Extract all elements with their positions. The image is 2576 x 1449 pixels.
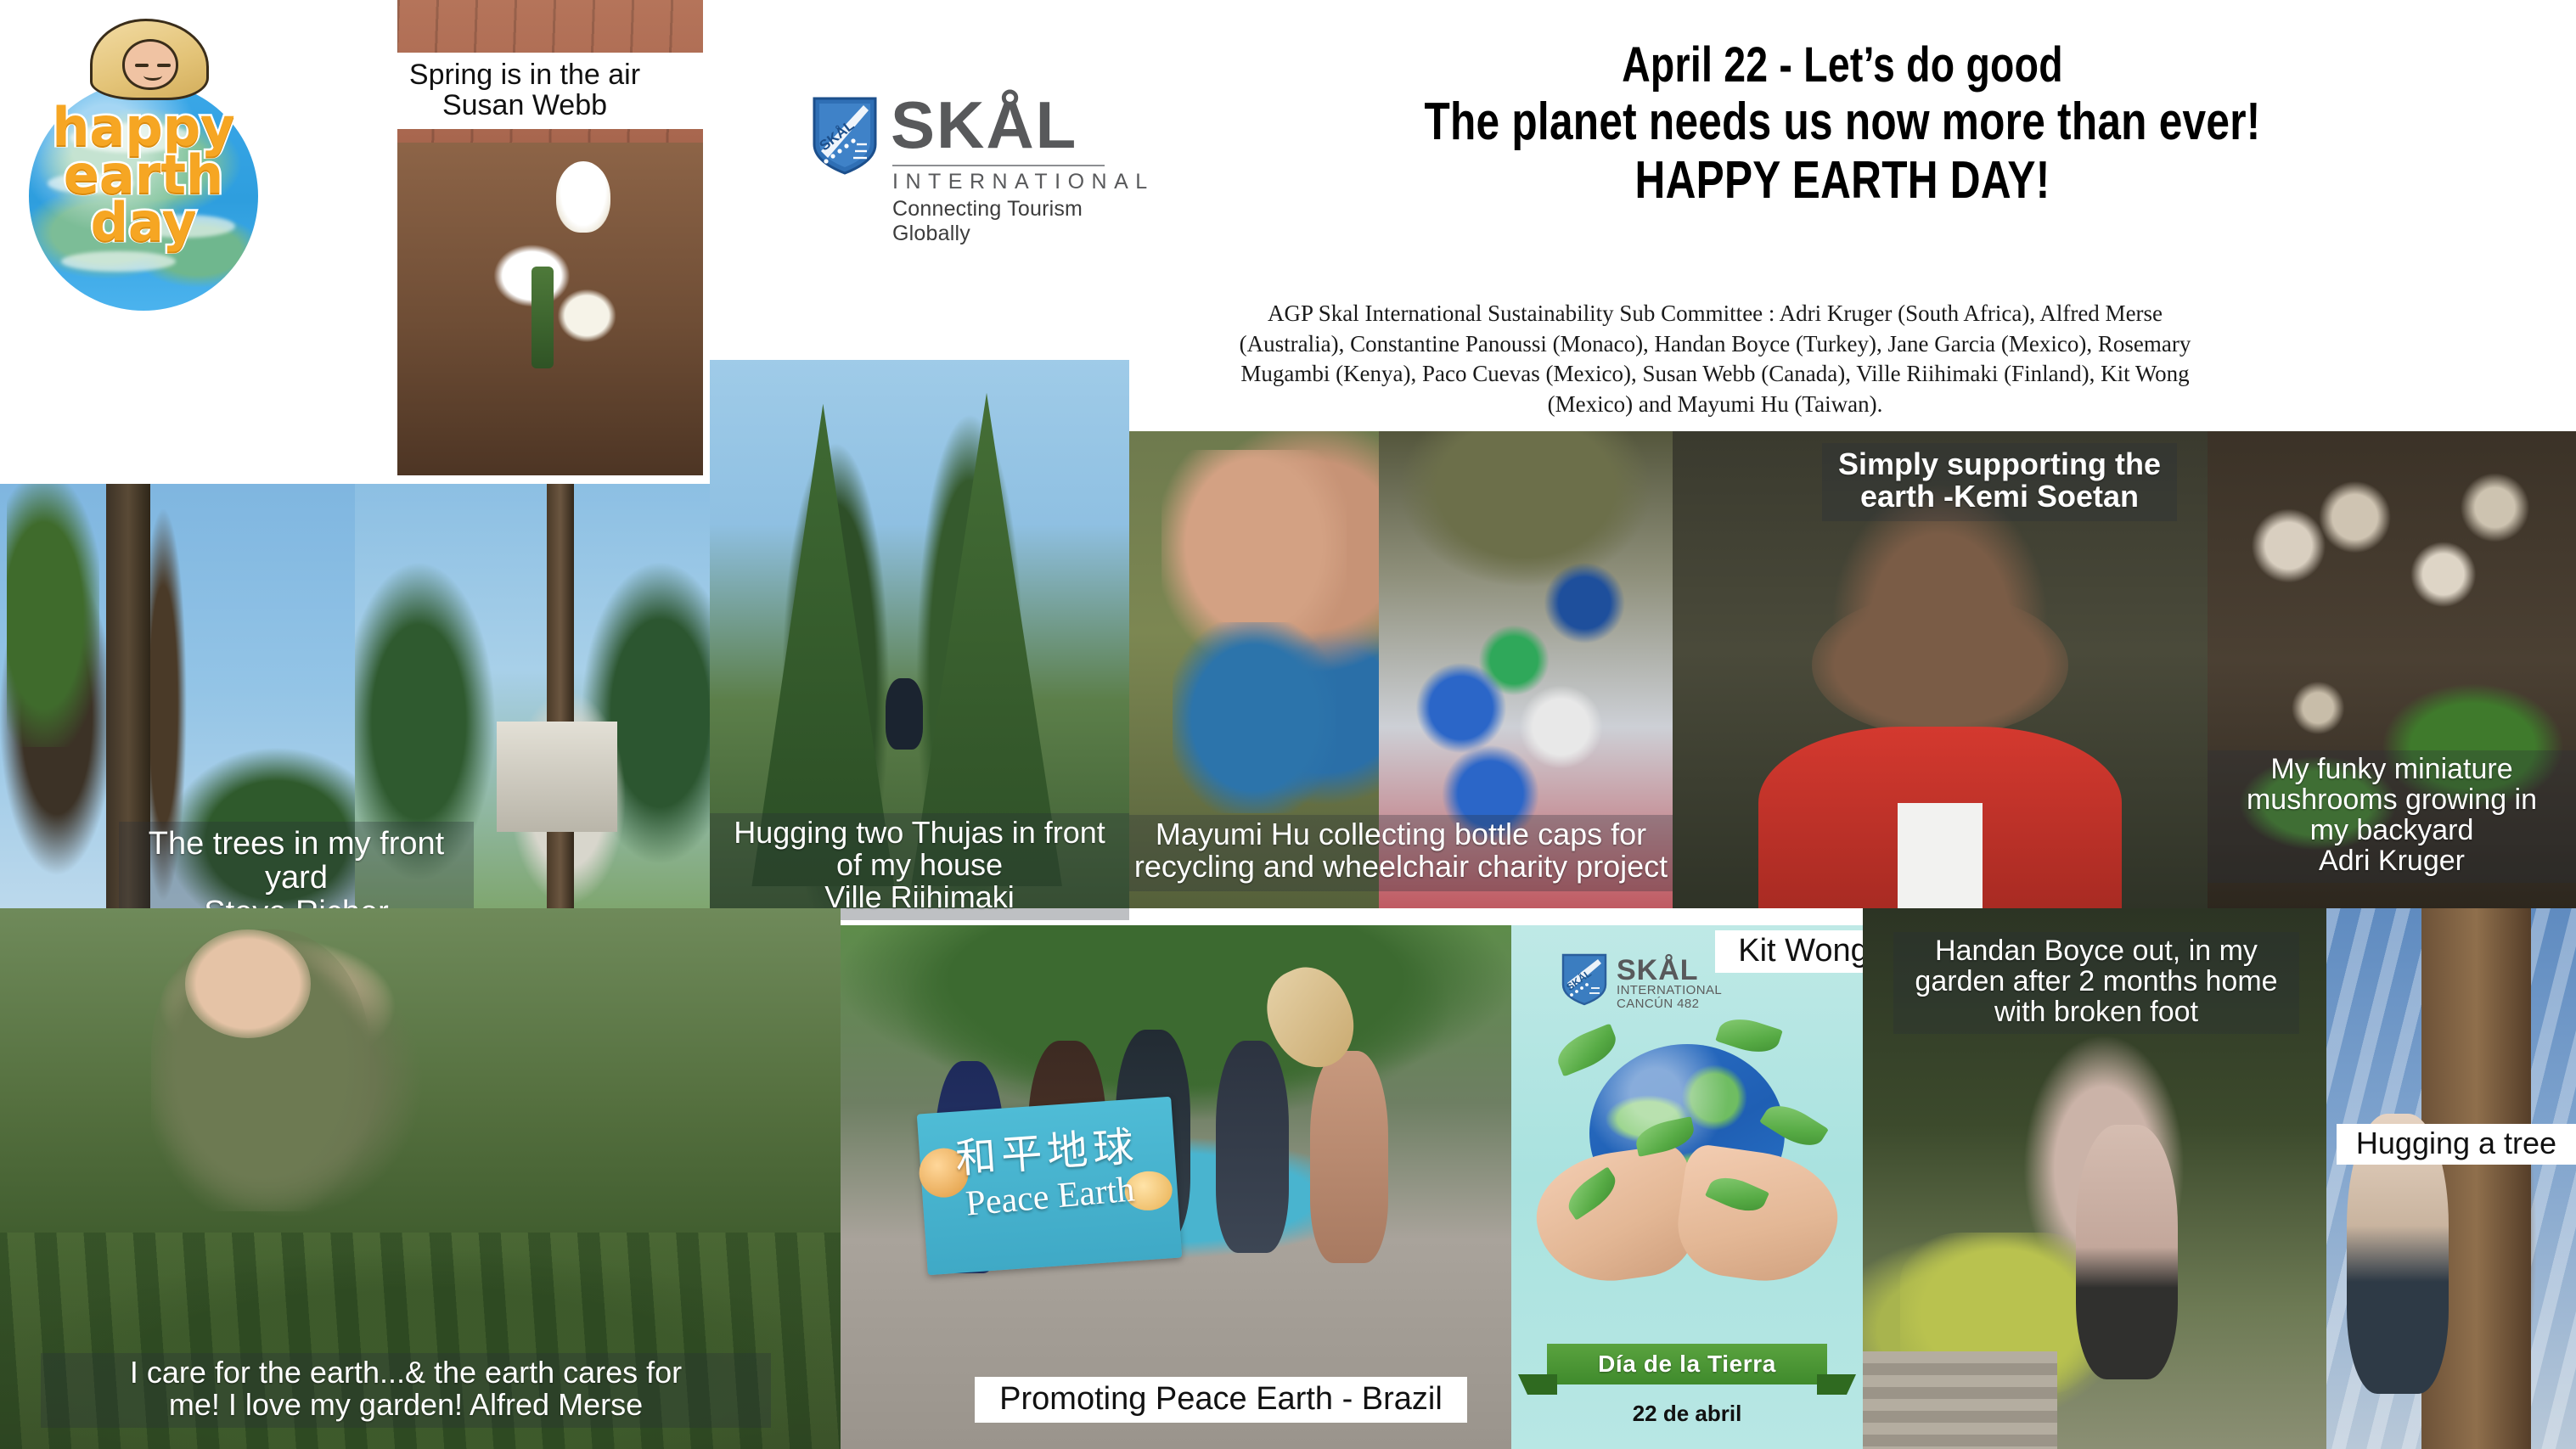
- poster-ribbon: Día de la Tierra: [1547, 1344, 1827, 1384]
- poster-date-text: 22 de abril: [1511, 1401, 1863, 1427]
- headline-block: April 22 - Let’s do good The planet need…: [1112, 39, 2573, 211]
- girl-illustration: [90, 19, 209, 100]
- logo-divider: [892, 165, 1105, 166]
- headline-line-2: The planet needs us now more than ever!: [1258, 93, 2427, 151]
- poster-logo-sub1: INTERNATIONAL: [1617, 983, 1722, 997]
- caption-peace-earth-brazil: Promoting Peace Earth - Brazil: [975, 1377, 1467, 1423]
- badge-text: happy earth day: [15, 104, 272, 245]
- photo-kit-wong-poster: SKÅL SKÅL INTERNATIONAL CANCÚN 482 Día d…: [1511, 925, 1863, 1449]
- skal-shield-icon: SKÅL: [1561, 952, 1608, 1007]
- caption-tree-hug: Hugging a tree: [2337, 1124, 2576, 1165]
- photo-tree-hug: [2326, 908, 2576, 1449]
- committee-credits: AGP Skal International Sustainability Su…: [1223, 299, 2208, 420]
- caption-bottle-caps: Mayumi Hu collecting bottle caps for rec…: [1129, 815, 1673, 891]
- happy-earth-day-badge: happy earth day: [15, 8, 278, 263]
- caption-thuja-hug: Hugging two Thujas in front of my house …: [710, 813, 1129, 920]
- poster-ribbon-text: Día de la Tierra: [1598, 1351, 1776, 1378]
- badge-line-3: day: [15, 199, 272, 246]
- headline-line-3: HAPPY EARTH DAY!: [1258, 151, 2427, 211]
- headline-line-1: April 22 - Let’s do good: [1258, 39, 2427, 93]
- peace-earth-banner: 和平地球 Peace Earth: [917, 1097, 1183, 1275]
- caption-handan-garden: Handan Boyce out, in my garden after 2 m…: [1893, 932, 2299, 1034]
- skal-wordmark: SKÅL: [891, 87, 1077, 164]
- caption-spring-crocus: Spring is in the air Susan Webb: [343, 53, 706, 129]
- photo-peace-earth-brazil: 和平地球 Peace Earth: [841, 925, 1511, 1449]
- skal-international-logo: SKÅL SKÅL INTERNATIONAL Connecting Touri…: [811, 92, 1108, 221]
- caption-kemi-soetan: Simply supporting the earth -Kemi Soetan: [1822, 443, 2177, 521]
- caption-miniature-mushrooms: My funky miniature mushrooms growing in …: [2208, 750, 2576, 883]
- caption-alfred-garden: I care for the earth...& the earth cares…: [41, 1353, 771, 1428]
- poster-logo-sub2: CANCÚN 482: [1617, 997, 1699, 1011]
- skal-shield-icon: SKÅL: [811, 95, 879, 177]
- skal-tagline: Connecting Tourism Globally: [892, 197, 1108, 246]
